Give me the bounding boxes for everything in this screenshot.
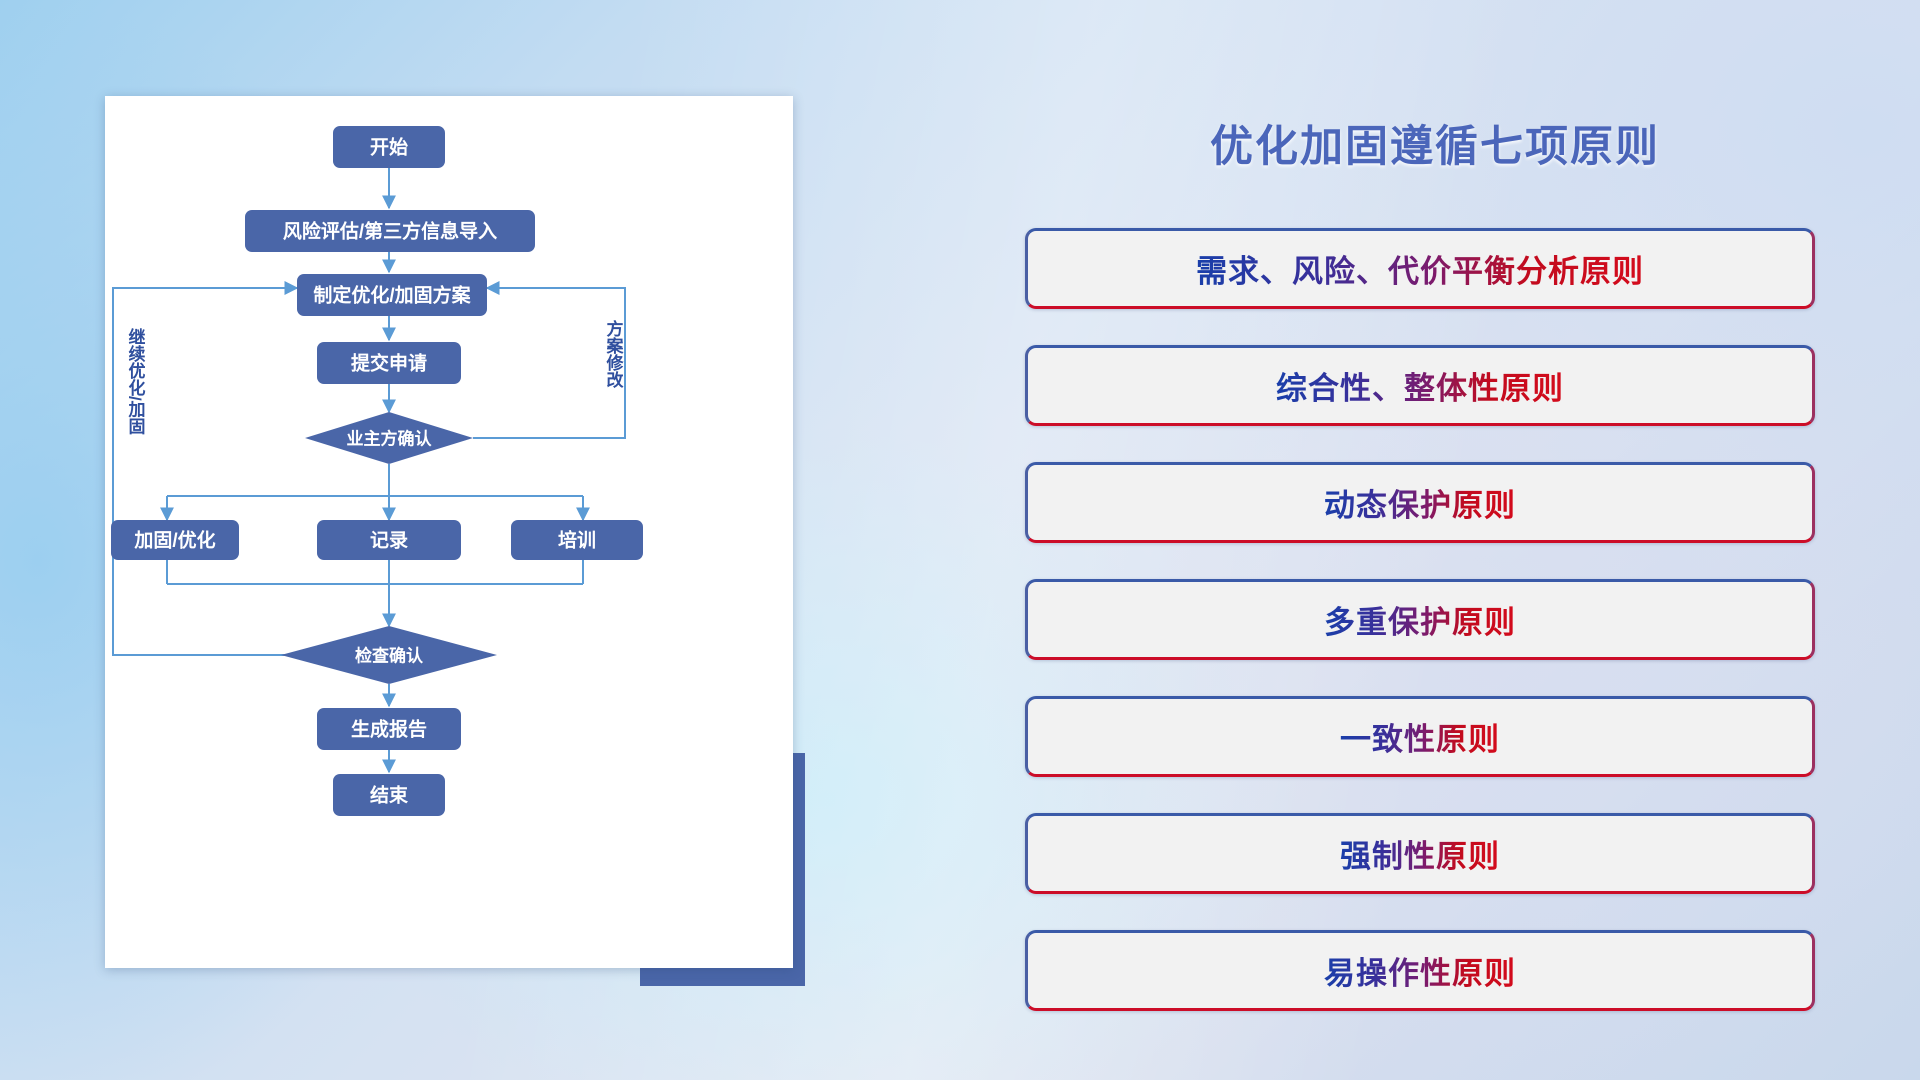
flow-node-plan[interactable]: 制定优化/加固方案 bbox=[297, 274, 487, 316]
flow-node-start-label: 开始 bbox=[370, 136, 408, 159]
flow-node-record-label: 记录 bbox=[370, 530, 408, 552]
flow-node-check[interactable]: 检查确认 bbox=[281, 626, 497, 684]
flow-node-owner-confirm-label: 业主方确认 bbox=[347, 429, 433, 449]
flow-connectors bbox=[113, 168, 625, 772]
principle-item[interactable]: 多重保护原则 bbox=[1025, 579, 1815, 660]
flow-node-owner-confirm[interactable]: 业主方确认 bbox=[305, 412, 473, 464]
flow-node-risk[interactable]: 风险评估/第三方信息导入 bbox=[245, 210, 535, 252]
principle-label: 易操作性原则 bbox=[1324, 948, 1516, 993]
edge-label-plan-revision: 方案修改 bbox=[604, 319, 625, 389]
principle-label: 多重保护原则 bbox=[1324, 597, 1516, 642]
principle-label: 综合性、整体性原则 bbox=[1276, 363, 1564, 408]
edge-label-continue-optimize: 继续优化/加固 bbox=[126, 327, 147, 436]
principle-label: 动态保护原则 bbox=[1324, 480, 1516, 525]
principle-item[interactable]: 动态保护原则 bbox=[1025, 462, 1815, 543]
flow-node-submit[interactable]: 提交申请 bbox=[317, 342, 461, 384]
flow-node-risk-label: 风险评估/第三方信息导入 bbox=[283, 220, 497, 243]
principle-item[interactable]: 需求、风险、代价平衡分析原则 bbox=[1025, 228, 1815, 309]
flow-nodes: 开始 风险评估/第三方信息导入 制定优化/加固方案 提交申请 业主方确认 加固/… bbox=[111, 126, 643, 816]
principle-label: 强制性原则 bbox=[1340, 831, 1500, 876]
flowchart-diagram: 开始 风险评估/第三方信息导入 制定优化/加固方案 提交申请 业主方确认 加固/… bbox=[105, 96, 793, 968]
flow-node-training[interactable]: 培训 bbox=[511, 520, 643, 560]
flow-node-reinforce-label: 加固/优化 bbox=[133, 529, 215, 552]
principle-list: 需求、风险、代价平衡分析原则 综合性、整体性原则 动态保护原则 多重保护原则 一… bbox=[1025, 228, 1815, 1047]
flow-node-start[interactable]: 开始 bbox=[333, 126, 445, 168]
principle-label: 需求、风险、代价平衡分析原则 bbox=[1196, 246, 1644, 291]
principle-item[interactable]: 综合性、整体性原则 bbox=[1025, 345, 1815, 426]
principle-label: 一致性原则 bbox=[1340, 714, 1500, 759]
flow-node-end[interactable]: 结束 bbox=[333, 774, 445, 816]
page-title: 优化加固遵循七项原则 bbox=[1020, 112, 1850, 174]
flow-node-record[interactable]: 记录 bbox=[317, 520, 461, 560]
principle-item[interactable]: 强制性原则 bbox=[1025, 813, 1815, 894]
flow-node-plan-label: 制定优化/加固方案 bbox=[313, 284, 471, 307]
flow-node-training-label: 培训 bbox=[558, 529, 596, 552]
flow-node-check-label: 检查确认 bbox=[355, 646, 424, 666]
flow-node-report[interactable]: 生成报告 bbox=[317, 708, 461, 750]
flow-node-end-label: 结束 bbox=[370, 784, 409, 807]
flow-node-report-label: 生成报告 bbox=[351, 718, 427, 741]
flow-node-reinforce[interactable]: 加固/优化 bbox=[111, 520, 239, 560]
flow-node-submit-label: 提交申请 bbox=[351, 352, 427, 375]
principle-item[interactable]: 易操作性原则 bbox=[1025, 930, 1815, 1011]
principles-panel: 优化加固遵循七项原则 需求、风险、代价平衡分析原则 综合性、整体性原则 动态保护… bbox=[1020, 96, 1850, 996]
principle-item[interactable]: 一致性原则 bbox=[1025, 696, 1815, 777]
